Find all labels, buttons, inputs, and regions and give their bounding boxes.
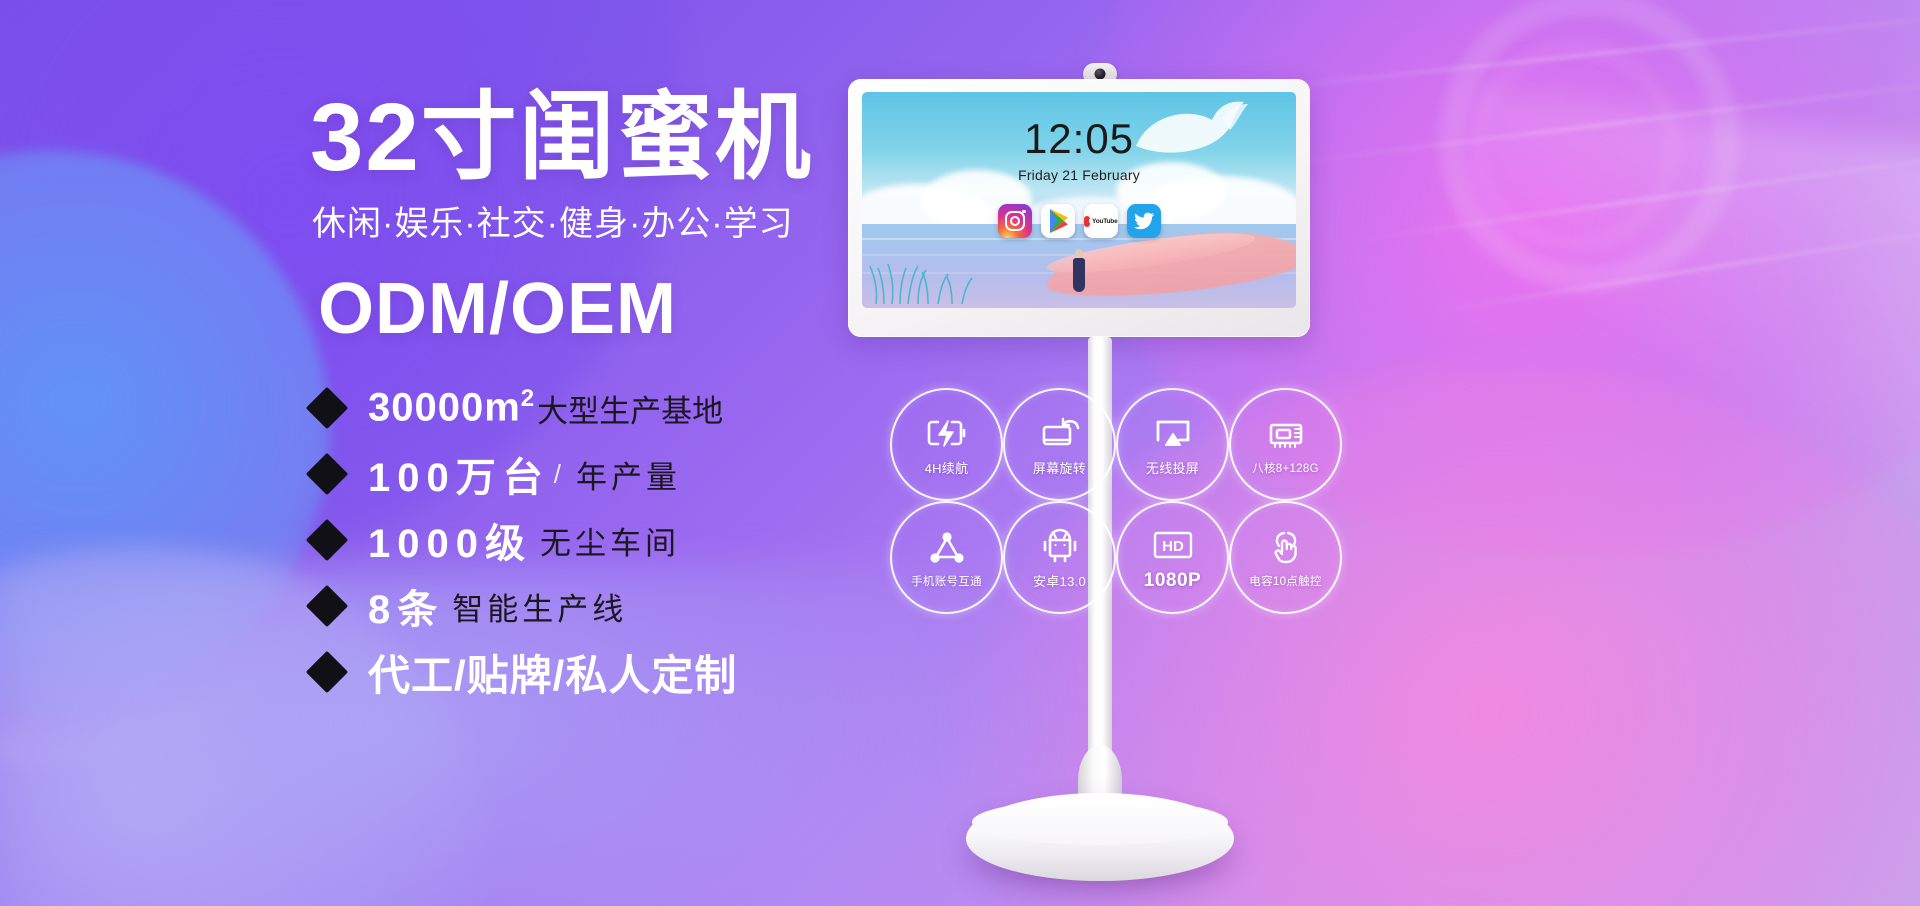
badge-chipset[interactable]: 八核8+128G [1229, 388, 1342, 501]
feature-bullet-list: 30000m2 大型生产基地 100万台 / 年产量 1000级 无尘车间 8条… [312, 375, 872, 705]
decor-ring [1438, 0, 1740, 292]
diamond-bullet-icon [306, 453, 348, 495]
device-bezel: 12:05 Friday 21 February [848, 79, 1310, 337]
badge-screen-rotate[interactable]: 屏幕旋转 [1003, 388, 1116, 501]
light-streak [1282, 77, 1920, 165]
banner-title: 32寸闺蜜机 [310, 88, 813, 189]
person-illustration [1071, 240, 1087, 292]
badge-wireless-cast[interactable]: 无线投屏 [1116, 388, 1229, 501]
badge-label: 手机账号互通 [911, 573, 982, 589]
chip-icon [1265, 414, 1307, 456]
badge-label: 1080P [1144, 570, 1201, 592]
lockscreen-clock: 12:05 Friday 21 February [862, 118, 1296, 183]
light-streak [1423, 224, 1920, 315]
badge-resolution[interactable]: HD 1080P [1116, 501, 1229, 614]
app-dock: YouTube [862, 204, 1296, 238]
bullet-rest: 无尘车间 [540, 518, 680, 563]
grass-illustration [868, 260, 988, 304]
bullet-strong: 30000m2 [368, 385, 535, 430]
diamond-bullet-icon [306, 519, 348, 561]
service-model-heading: ODM/OEM [318, 268, 677, 350]
bullet-strong: 8条 [368, 577, 444, 635]
badge-label: 八核8+128G [1252, 460, 1319, 476]
list-item: 1000级 无尘车间 [312, 507, 872, 573]
google-play-icon[interactable] [1041, 204, 1075, 238]
device-screen: 12:05 Friday 21 February [862, 92, 1296, 308]
bullet-strong: 代工/贴牌/私人定制 [368, 642, 737, 703]
banner-subtitle: 休闲·娱乐·社交·健身·办公·学习 [312, 196, 794, 245]
product-banner: 32寸闺蜜机 休闲·娱乐·社交·健身·办公·学习 ODM/OEM 30000m2… [0, 0, 1920, 906]
bullet-rest: 智能生产线 [452, 584, 627, 629]
bullet-strong: 1000级 [368, 511, 532, 569]
bullet-rest: 年产量 [576, 452, 681, 497]
screen-rotate-icon [1039, 412, 1081, 454]
youtube-icon[interactable]: YouTube [1084, 204, 1118, 238]
wireless-cast-icon [1152, 412, 1194, 454]
battery-charging-icon [926, 412, 968, 454]
light-streak [1343, 151, 1920, 243]
hd-icon: HD [1151, 524, 1195, 566]
diamond-bullet-icon [306, 387, 348, 429]
twitter-icon[interactable] [1127, 204, 1161, 238]
badge-label: 无线投屏 [1146, 458, 1199, 477]
badge-row-1: 4H续航 屏幕旋转 [890, 388, 1360, 501]
badge-battery[interactable]: 4H续航 [890, 388, 1003, 501]
clock-date: Friday 21 February [862, 167, 1296, 183]
multi-touch-icon [1266, 527, 1306, 569]
bullet-rest: 大型生产基地 [537, 386, 723, 431]
light-wedge [1413, 86, 1920, 574]
account-share-icon [927, 527, 967, 569]
decor-ring-inner [1468, 40, 1680, 252]
list-item: 100万台 / 年产量 [312, 441, 872, 507]
list-item: 代工/贴牌/私人定制 [312, 639, 872, 705]
badge-label: 电容10点触控 [1249, 573, 1321, 589]
bullet-strong: 100万台 [368, 445, 550, 503]
badge-label: 屏幕旋转 [1033, 458, 1086, 477]
diamond-bullet-icon [306, 585, 348, 627]
badge-account-share[interactable]: 手机账号互通 [890, 501, 1003, 614]
android-icon [1041, 525, 1079, 567]
device-base [966, 793, 1234, 881]
badge-row-2: 手机账号互通 安卓13.0 [890, 501, 1360, 614]
list-item: 30000m2 大型生产基地 [312, 375, 872, 441]
badge-multitouch[interactable]: 电容10点触控 [1229, 501, 1342, 614]
bullet-separator: / [554, 459, 561, 490]
clock-time: 12:05 [862, 118, 1296, 160]
copy-block: 32寸闺蜜机 休闲·娱乐·社交·健身·办公·学习 ODM/OEM 30000m2… [0, 0, 880, 906]
list-item: 8条 智能生产线 [312, 573, 872, 639]
feature-badge-grid: 4H续航 屏幕旋转 [890, 388, 1360, 614]
badge-android[interactable]: 安卓13.0 [1003, 501, 1116, 614]
badge-label: 4H续航 [925, 458, 969, 477]
badge-label: 安卓13.0 [1033, 571, 1086, 590]
diamond-bullet-icon [306, 651, 348, 693]
instagram-icon[interactable] [998, 204, 1032, 238]
svg-text:HD: HD [1162, 538, 1184, 555]
youtube-wordmark: YouTube [1092, 218, 1117, 225]
bullet-superscript: 2 [521, 385, 535, 412]
